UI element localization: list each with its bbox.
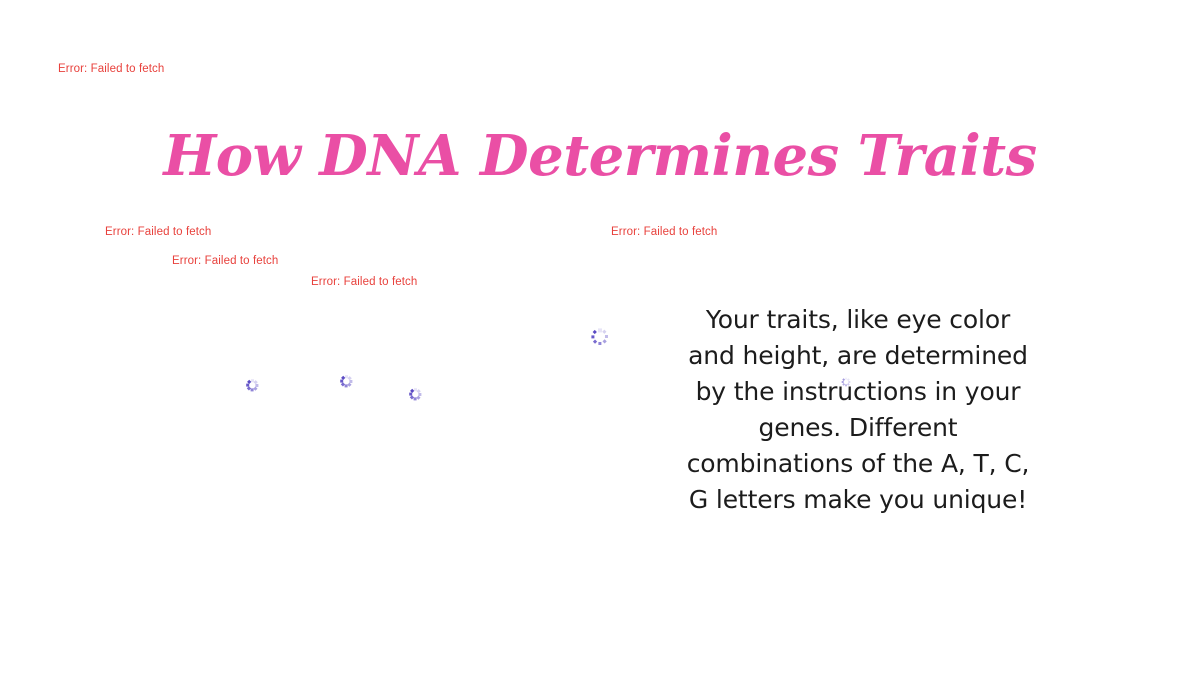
loading-spinner-icon [340, 375, 353, 388]
error-message: Error: Failed to fetch [105, 227, 211, 239]
slide-canvas: How DNA Determines Traits Your traits, l… [0, 0, 1200, 675]
loading-spinner-icon [841, 377, 850, 386]
error-message: Error: Failed to fetch [311, 277, 417, 289]
error-message: Error: Failed to fetch [58, 64, 164, 76]
loading-spinner-icon [246, 379, 259, 392]
loading-spinner-icon [409, 388, 422, 401]
loading-spinner-icon [591, 328, 609, 346]
page-title: How DNA Determines Traits [0, 126, 1200, 188]
body-paragraph: Your traits, like eye color and height, … [686, 302, 1030, 518]
error-message: Error: Failed to fetch [172, 256, 278, 268]
error-message: Error: Failed to fetch [611, 227, 717, 239]
